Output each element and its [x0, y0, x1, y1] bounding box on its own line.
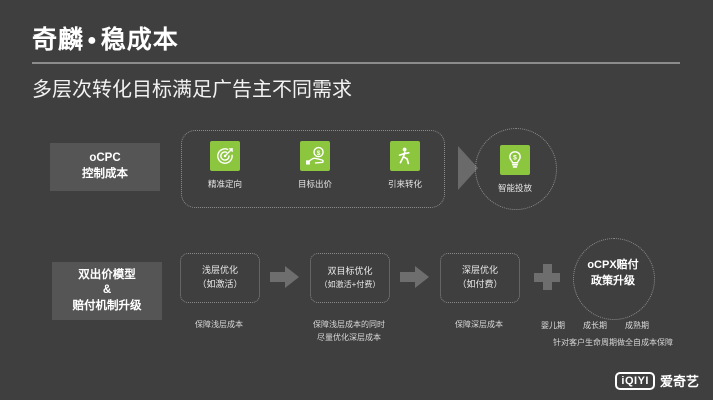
target-icon [210, 141, 240, 171]
row1-label-box: oCPC 控制成本 [50, 143, 160, 191]
row2-caption-1: 保障浅层成本的同时 尽量优化深层成本 [299, 319, 399, 345]
row1-icon-cell-0[interactable]: 精准定向 [195, 141, 255, 190]
row2-step-title-2: 深层优化 [462, 264, 498, 278]
page-subtitle: 多层次转化目标满足广告主不同需求 [32, 73, 352, 102]
slide-canvas: 奇麟●稳成本 多层次转化目标满足广告主不同需求 oCPC 控制成本 精准定向 $ [0, 0, 713, 400]
row2-caption-line2-1: 尽量优化深层成本 [299, 332, 399, 345]
lightbulb-dollar-icon: $ [500, 145, 530, 175]
lifecycle-note: 针对客户生命周期做全自成本保障 [528, 337, 698, 348]
page-title-left: 奇麟 [32, 26, 84, 54]
row1-label-line1: oCPC [89, 151, 120, 167]
row2-step-0[interactable]: 浅层优化 （如激活） [180, 253, 260, 303]
row2-step-subtitle-1: （如激活+付费） [320, 279, 381, 291]
row2-label-line2: & [103, 283, 111, 299]
row1-result-label: 智能投放 [485, 182, 545, 194]
lifecycle-stage-0: 婴儿期 [541, 320, 565, 331]
row2-step-subtitle-0: （如激活） [197, 278, 242, 292]
row2-caption-0: 保障浅层成本 [169, 319, 269, 332]
row2-caption-2: 保障深层成本 [429, 319, 529, 332]
svg-text:$: $ [513, 155, 517, 162]
row2-label-line3: 赔付机制升级 [73, 299, 142, 315]
row1-icon-cell-2[interactable]: 引来转化 [375, 141, 435, 190]
row2-caption-line1-0: 保障浅层成本 [169, 319, 269, 332]
iqiyi-logo-mark: iQIYI [615, 372, 655, 390]
lifecycle-stage-1: 成长期 [583, 320, 607, 331]
row1-icon-label-0: 精准定向 [195, 178, 255, 190]
title-divider [32, 62, 680, 64]
row1-icon-label-1: 目标出价 [285, 178, 345, 190]
row1-icon-label-2: 引来转化 [375, 178, 435, 190]
row2-label-box: 双出价模型 & 赔付机制升级 [52, 262, 162, 320]
iqiyi-logo: iQIYI 爱奇艺 [615, 371, 699, 390]
row2-step-1[interactable]: 双目标优化 （如激活+付费） [310, 253, 390, 303]
row2-result-line2: 政策升级 [573, 274, 653, 290]
row1-label-line2: 控制成本 [82, 167, 128, 183]
row2-step-2[interactable]: 深层优化 （如付费） [440, 253, 520, 303]
row2-result-line1: oCPX赔付 [573, 258, 653, 274]
page-title-right: 稳成本 [101, 26, 179, 54]
row2-step-title-0: 浅层优化 [202, 264, 238, 278]
row2-caption-line1-2: 保障深层成本 [429, 319, 529, 332]
row2-arrow-0 [270, 266, 300, 288]
svg-text:$: $ [316, 149, 320, 156]
lifecycle-stages: 婴儿期 成长期 成熟期 [541, 320, 649, 331]
hand-coin-icon: $ [300, 141, 330, 171]
row1-icon-cell-1[interactable]: $ 目标出价 [285, 141, 345, 190]
person-running-icon [390, 141, 420, 171]
page-title: 奇麟●稳成本 [32, 20, 179, 56]
lifecycle-stage-2: 成熟期 [625, 320, 649, 331]
row2-label-line1: 双出价模型 [78, 268, 136, 284]
row2-result-text: oCPX赔付 政策升级 [573, 258, 653, 290]
row2-arrow-1 [400, 266, 430, 288]
row2-caption-line1-1: 保障浅层成本的同时 [299, 319, 399, 332]
row2-step-subtitle-2: （如付费） [457, 278, 502, 292]
iqiyi-logo-text: 爱奇艺 [660, 371, 699, 390]
plus-icon [534, 264, 560, 290]
bullet-dot-icon: ● [84, 32, 101, 49]
row1-result-cell[interactable]: $ 智能投放 [485, 145, 545, 194]
row2-step-title-1: 双目标优化 [327, 265, 372, 279]
